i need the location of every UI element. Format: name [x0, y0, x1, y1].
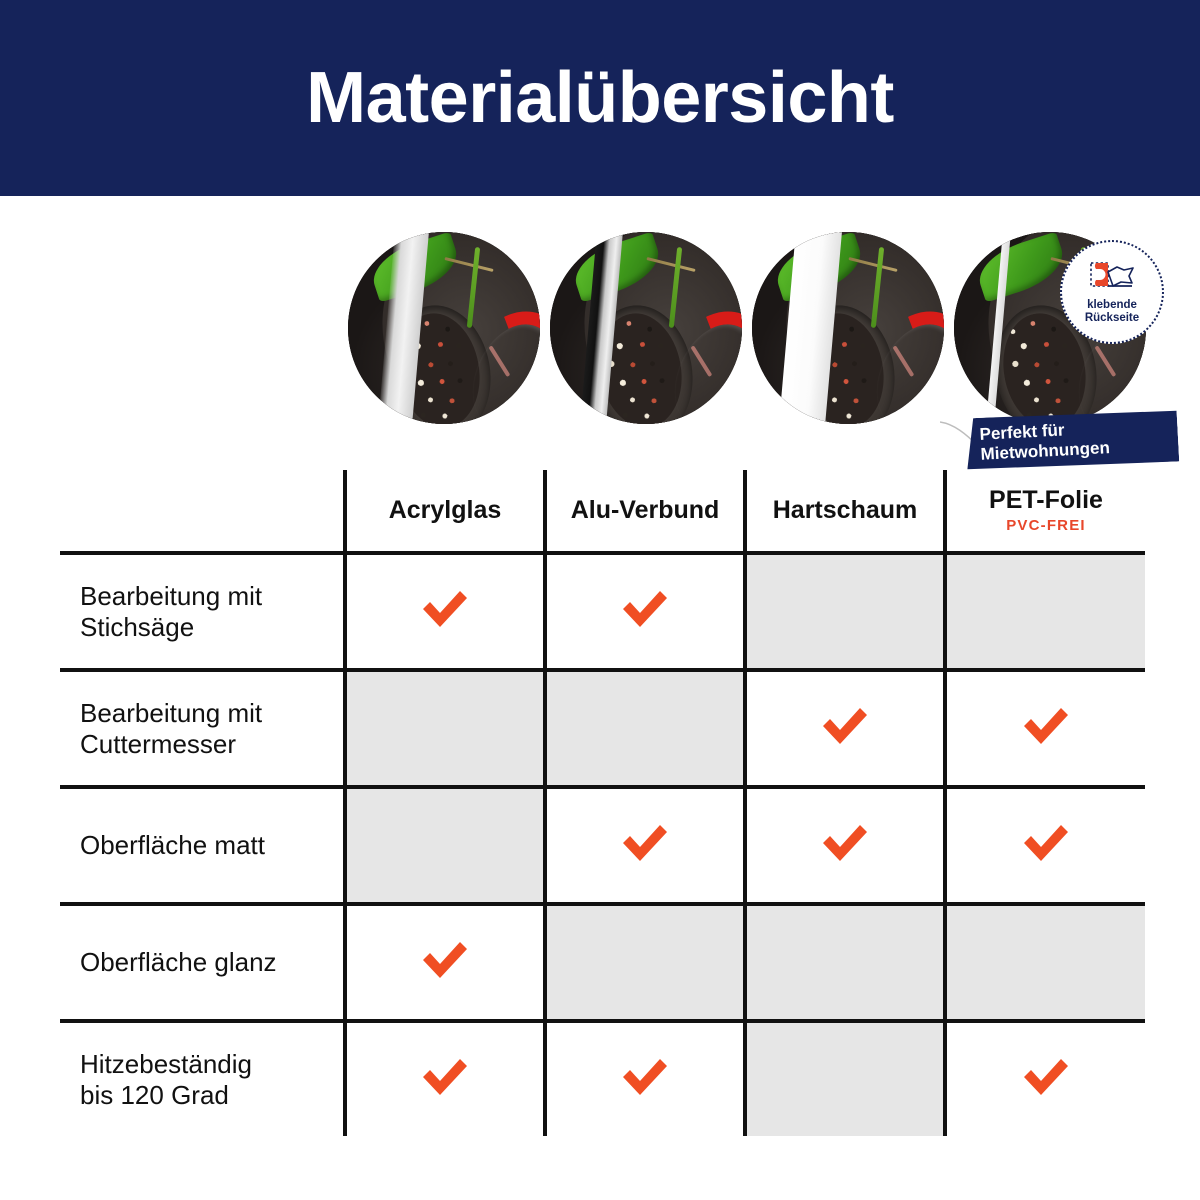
table-row: Bearbeitung mit Stichsäge [60, 553, 1145, 670]
check-icon [819, 704, 871, 748]
badge-label: klebende Rückseite [1085, 299, 1139, 325]
check-icon [819, 821, 871, 865]
klebende-rueckseite-badge: klebende Rückseite [1060, 240, 1164, 344]
table-row: Hitzebeständig bis 120 Grad [60, 1021, 1145, 1136]
column-header-alu-verbund: Alu-Verbund [545, 470, 745, 553]
product-preview-hartschaum [752, 232, 944, 424]
column-title: Alu-Verbund [547, 497, 743, 523]
column-title: PET-Folie [947, 487, 1145, 513]
column-title: Hartschaum [747, 497, 943, 523]
row-label: Hitzebeständig bis 120 Grad [60, 1021, 345, 1136]
check-icon [1020, 821, 1072, 865]
material-comparison-table: Acrylglas Alu-Verbund Hartschaum PET-Fol… [60, 470, 1145, 1136]
product-image-alu-verbund [550, 232, 742, 424]
page-title: Materialübersicht [306, 62, 894, 134]
cell-not-supported [545, 904, 745, 1021]
row-label: Oberfläche matt [60, 787, 345, 904]
table-corner-cell [60, 470, 345, 553]
chili-peppercorn-photo [348, 232, 540, 424]
cell-supported [545, 553, 745, 670]
cell-supported [745, 787, 945, 904]
product-image-hartschaum [752, 232, 944, 424]
product-preview-acrylglas [348, 232, 540, 424]
product-image-acrylglas [348, 232, 540, 424]
cell-not-supported [745, 1021, 945, 1136]
cell-not-supported [945, 904, 1145, 1021]
cell-supported [545, 1021, 745, 1136]
check-icon [619, 587, 671, 631]
check-icon [1020, 704, 1072, 748]
row-label: Bearbeitung mit Cuttermesser [60, 670, 345, 787]
row-label: Bearbeitung mit Stichsäge [60, 553, 345, 670]
table-row: Oberfläche matt [60, 787, 1145, 904]
cell-supported [945, 670, 1145, 787]
check-icon [419, 587, 471, 631]
check-icon [419, 1055, 471, 1099]
page-header: Materialübersicht [0, 0, 1200, 196]
cell-supported [545, 787, 745, 904]
column-header-hartschaum: Hartschaum [745, 470, 945, 553]
table-row: Oberfläche glanz [60, 904, 1145, 1021]
table-row: Bearbeitung mit Cuttermesser [60, 670, 1145, 787]
cell-not-supported [745, 553, 945, 670]
cell-supported [945, 1021, 1145, 1136]
cell-not-supported [345, 670, 545, 787]
column-header-acrylglas: Acrylglas [345, 470, 545, 553]
check-icon [619, 1055, 671, 1099]
product-preview-row [0, 232, 1200, 432]
column-subtitle-pvc-frei: PVC-FREI [947, 517, 1145, 534]
chili-peppercorn-photo [752, 232, 944, 424]
cell-supported [745, 670, 945, 787]
cell-supported [945, 787, 1145, 904]
chili-peppercorn-photo [550, 232, 742, 424]
cell-not-supported [345, 787, 545, 904]
cell-not-supported [545, 670, 745, 787]
check-icon [419, 938, 471, 982]
cell-supported [345, 904, 545, 1021]
check-icon [619, 821, 671, 865]
column-header-pet-folie: PET-Folie PVC-FREI [945, 470, 1145, 553]
ribbon-label: Perfekt für Mietwohnungen [979, 418, 1110, 465]
column-title: Acrylglas [347, 497, 543, 523]
cell-not-supported [945, 553, 1145, 670]
cell-supported [345, 553, 545, 670]
row-label: Oberfläche glanz [60, 904, 345, 1021]
product-preview-alu-verbund [550, 232, 742, 424]
peel-adhesive-backing-icon [1089, 260, 1135, 297]
table-header-row: Acrylglas Alu-Verbund Hartschaum PET-Fol… [60, 470, 1145, 553]
check-icon [1020, 1055, 1072, 1099]
cell-not-supported [745, 904, 945, 1021]
cell-supported [345, 1021, 545, 1136]
